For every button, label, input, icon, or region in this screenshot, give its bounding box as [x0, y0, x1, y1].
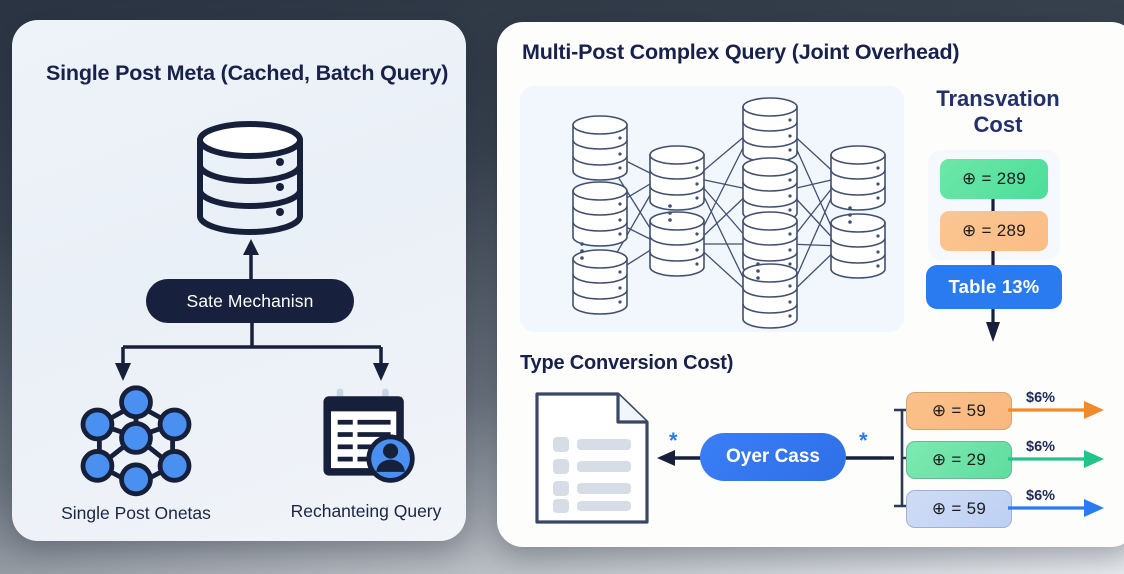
fanout-bracket [846, 390, 912, 530]
gate-mechanism-pill[interactable]: Sate Mechanisn [146, 279, 354, 323]
output-pct-blue: $6% [1026, 488, 1055, 504]
diagram-canvas: Single Post Meta (Cached, Batch Query) S… [0, 0, 1124, 574]
output-pct-orange: $6% [1026, 390, 1055, 406]
multiplicity-star-left: * [669, 430, 678, 452]
clipboard-user-icon [314, 383, 418, 487]
chip-orange-289[interactable]: ⊕ = 289 [940, 211, 1048, 251]
branch-connector [107, 323, 397, 385]
left-panel-card: Single Post Meta (Cached, Batch Query) S… [12, 20, 466, 541]
output-chip-orange-59[interactable]: ⊕ = 59 [906, 392, 1012, 430]
output-arrow-blue [1008, 498, 1120, 520]
leaf-label-rechanteing-query: Rechanteing Query [275, 501, 457, 522]
output-pct-green: $6% [1026, 439, 1055, 455]
transformation-cost-title: Transvation Cost [918, 86, 1078, 138]
document-lines-icon [533, 389, 651, 527]
chip-green-289[interactable]: ⊕ = 289 [940, 159, 1048, 199]
right-panel-title: Multi-Post Complex Query (Joint Overhead… [522, 40, 959, 65]
output-chip-green-29[interactable]: ⊕ = 29 [906, 441, 1012, 479]
leaf-label-single-post-onetas: Single Post Onetas [46, 503, 226, 524]
transform-title-line1: Transvation [936, 86, 1059, 111]
database-cylinder-icon [194, 120, 306, 235]
leaf-rechanteing-query[interactable]: Rechanteing Query [275, 383, 457, 522]
database-cluster-network-icon [520, 86, 904, 332]
left-panel-title: Single Post Meta (Cached, Batch Query) [46, 61, 448, 86]
output-chip-blue-59[interactable]: ⊕ = 59 [906, 490, 1012, 528]
transform-title-line2: Cost [974, 112, 1023, 137]
leaf-single-post-onetas[interactable]: Single Post Onetas [46, 383, 226, 524]
output-arrow-green [1008, 449, 1120, 471]
oyer-cass-pill[interactable]: Oyer Cass [700, 433, 846, 481]
output-arrow-orange [1008, 400, 1120, 422]
type-conversion-cost-title: Type Conversion Cost) [520, 352, 733, 375]
chip-table-percent[interactable]: Table 13% [926, 265, 1062, 309]
graph-network-icon [78, 383, 194, 489]
